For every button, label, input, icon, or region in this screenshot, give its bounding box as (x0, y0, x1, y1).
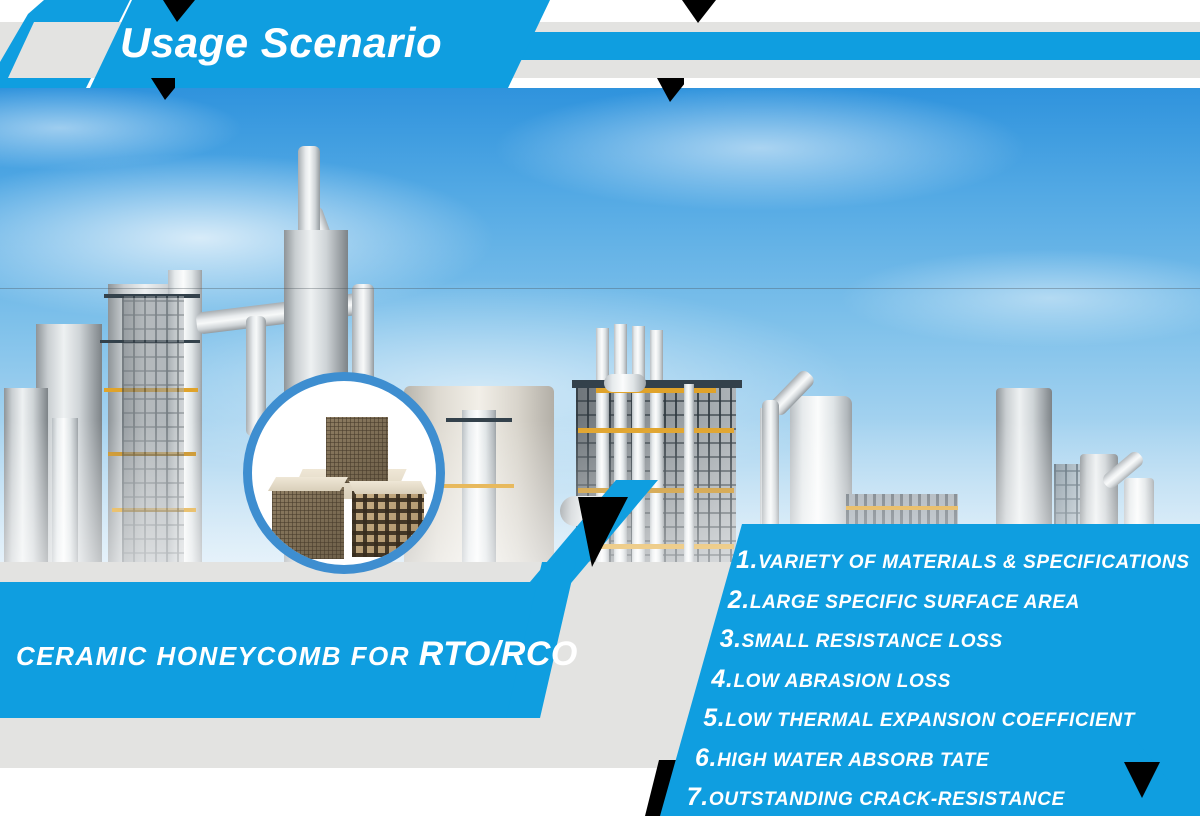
feature-item-6: 6.HIGH WATER ABSORB TATE (695, 744, 989, 773)
usage-scenario-banner: Usage Scenario CERAMIC HONEYCOMB FOR RTO… (0, 0, 1200, 816)
feature-item-label: VARIETY OF MATERIALS & SPECIFICATIONS (758, 552, 1189, 573)
feature-item-label: LOW THERMAL EXPANSION COEFFICIENT (725, 710, 1135, 731)
page-title: Usage Scenario (120, 14, 442, 72)
feature-item-number: 5. (703, 704, 725, 732)
feature-item-number: 3. (720, 625, 742, 653)
header-right-gray-strip (490, 60, 1200, 78)
feature-item-7: 7.OUTSTANDING CRACK-RESISTANCE (687, 783, 1065, 812)
feature-item-label: HIGH WATER ABSORB TATE (717, 750, 989, 771)
product-banner-text: CERAMIC HONEYCOMB FOR RTO/RCO (16, 634, 578, 676)
feature-item-number: 6. (695, 744, 717, 772)
honeycomb-block-back (326, 417, 388, 483)
feature-item-label: OUTSTANDING CRACK-RESISTANCE (709, 789, 1065, 810)
honeycomb-block-right (352, 491, 424, 557)
product-inset-circle[interactable] (243, 372, 445, 574)
honeycomb-block-left (272, 487, 344, 559)
feature-item-label: LOW ABRASION LOSS (733, 671, 950, 692)
feature-item-4: 4.LOW ABRASION LOSS (711, 665, 951, 694)
feature-item-number: 1. (736, 546, 758, 574)
honeycomb-block-right-top (349, 481, 427, 494)
feature-item-2: 2.LARGE SPECIFIC SURFACE AREA (728, 586, 1080, 615)
feature-item-label: LARGE SPECIFIC SURFACE AREA (750, 592, 1080, 613)
plant-center-drum (604, 374, 646, 392)
feature-item-number: 7. (687, 783, 709, 811)
product-banner-highlight: RTO/RCO (419, 635, 578, 673)
feature-item-3: 3.SMALL RESISTANCE LOSS (720, 625, 1003, 654)
product-banner-prefix: CERAMIC HONEYCOMB FOR (16, 641, 410, 671)
plant-center-top-deck (572, 380, 742, 388)
plant-riser-tall (298, 146, 320, 242)
feature-item-1: 1.VARIETY OF MATERIALS & SPECIFICATIONS (736, 546, 1190, 575)
feature-item-5: 5.LOW THERMAL EXPANSION COEFFICIENT (703, 704, 1135, 733)
feature-item-label: SMALL RESISTANCE LOSS (742, 631, 1003, 652)
feature-item-number: 4. (711, 665, 733, 693)
feature-item-number: 2. (728, 586, 750, 614)
honeycomb-block-left-top (268, 477, 348, 491)
